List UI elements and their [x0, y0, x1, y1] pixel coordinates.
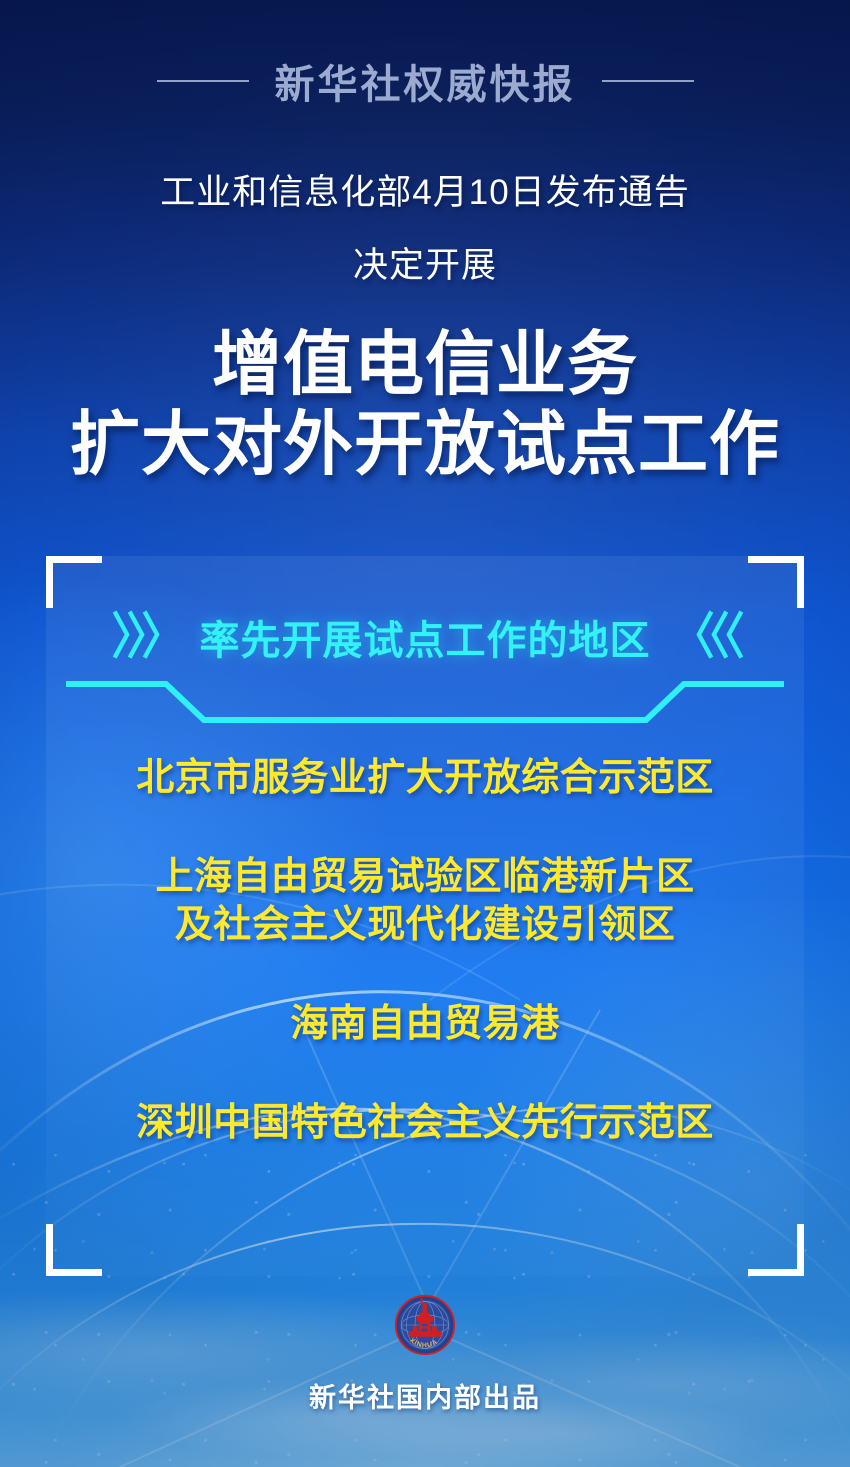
footer: XINHUA 新华社国内部出品 [0, 1294, 850, 1415]
panel-corner-bottom-left-icon [46, 1224, 102, 1276]
region-line-2: 及社会主义现代化建设引领区 [46, 901, 804, 950]
masthead-rule-left-icon [157, 80, 249, 82]
masthead-title: 新华社权威快报 [275, 52, 576, 110]
section-title: 率先开展试点工作的地区 [200, 608, 651, 666]
masthead-rule-right-icon [602, 80, 694, 82]
headline-block: 增值电信业务 扩大对外开放试点工作 [0, 325, 850, 485]
stepped-divider-icon [62, 674, 788, 730]
region-line-1: 海南自由贸易港 [46, 1000, 804, 1049]
region-line-1: 北京市服务业扩大开放综合示范区 [46, 754, 804, 803]
panel-corner-bottom-right-icon [748, 1224, 804, 1276]
lede-line-2: 决定开展 [0, 248, 850, 285]
regions-panel: 〉〉〉 率先开展试点工作的地区 〈〈〈 北京市服务业扩大开放综合示范区 上海自由… [46, 556, 804, 1276]
section-divider [62, 674, 788, 730]
section-heading: 〉〉〉 率先开展试点工作的地区 〈〈〈 [46, 608, 804, 666]
masthead: 新华社权威快报 [0, 52, 850, 110]
xinhua-logo: XINHUA [394, 1294, 456, 1356]
region-line-1: 上海自由贸易试验区临港新片区 [46, 853, 804, 902]
headline-line-1: 增值电信业务 [0, 325, 850, 405]
lede-block: 工业和信息化部4月10日发布通告 决定开展 [0, 175, 850, 285]
footer-text: 新华社国内部出品 [0, 1376, 850, 1415]
panel-corner-top-right-icon [748, 556, 804, 608]
list-item: 北京市服务业扩大开放综合示范区 [46, 754, 804, 803]
chevron-right-triple-icon: 〉〉〉 [111, 616, 177, 658]
list-item: 上海自由贸易试验区临港新片区 及社会主义现代化建设引领区 [46, 853, 804, 950]
lede-line-1: 工业和信息化部4月10日发布通告 [0, 175, 850, 212]
region-line-1: 深圳中国特色社会主义先行示范区 [46, 1099, 804, 1148]
list-item: 海南自由贸易港 [46, 1000, 804, 1049]
regions-list: 北京市服务业扩大开放综合示范区 上海自由贸易试验区临港新片区 及社会主义现代化建… [46, 754, 804, 1147]
panel-corner-top-left-icon [46, 556, 102, 608]
list-item: 深圳中国特色社会主义先行示范区 [46, 1099, 804, 1148]
headline-line-2: 扩大对外开放试点工作 [0, 405, 850, 485]
chevron-left-triple-icon: 〈〈〈 [673, 616, 739, 658]
news-poster: 新华社权威快报 工业和信息化部4月10日发布通告 决定开展 增值电信业务 扩大对… [0, 0, 850, 1467]
